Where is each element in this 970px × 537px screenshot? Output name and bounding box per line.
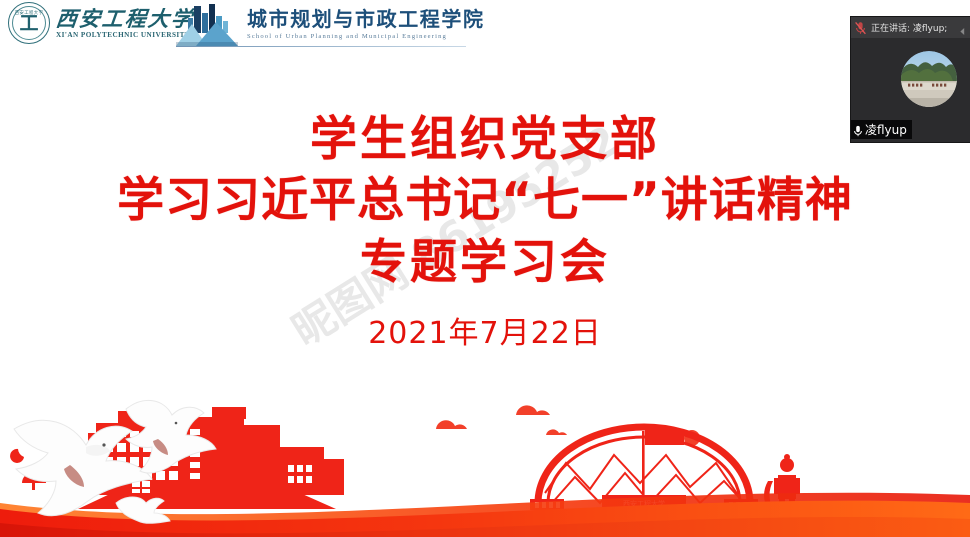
mic-active-icon xyxy=(853,124,863,136)
city-buildings-icon xyxy=(176,2,238,46)
campus-photo-avatar xyxy=(901,51,957,107)
university-logo: 西安工程大学 工 西安工程大学 XI'AN POLYTECHNIC UNIVER… xyxy=(8,2,194,44)
header-divider xyxy=(176,46,466,47)
dove-medium xyxy=(126,400,216,473)
speaking-status-label: 正在讲话: 凌flyup; xyxy=(871,21,954,34)
slide-header-logos: 西安工程大学 工 西安工程大学 XI'AN POLYTECHNIC UNIVER… xyxy=(0,0,970,52)
university-name-en: XI'AN POLYTECHNIC UNIVERSITY xyxy=(56,31,194,39)
chevron-left-icon[interactable] xyxy=(958,23,967,32)
school-name-cn: 城市规划与市政工程学院 xyxy=(247,8,485,30)
title-line-3: 专题学习会 xyxy=(0,235,970,290)
participant-name: 凌flyup xyxy=(865,121,907,138)
video-conference-overlay[interactable]: 正在讲话: 凌flyup; xyxy=(851,17,970,142)
presentation-screen: 西安工程大学 工 西安工程大学 XI'AN POLYTECHNIC UNIVER… xyxy=(0,0,970,537)
mic-muted-icon[interactable] xyxy=(854,21,867,35)
video-conference-header[interactable]: 正在讲话: 凌flyup; xyxy=(851,17,970,38)
school-name-en: School of Urban Planning and Municipal E… xyxy=(247,33,485,40)
university-seal-icon: 西安工程大学 工 xyxy=(8,2,50,44)
university-name-group: 西安工程大学 XI'AN POLYTECHNIC UNIVERSITY xyxy=(56,7,194,39)
title-line-1: 学生组织党支部 xyxy=(0,112,970,167)
slide-date: 2021年7月22日 xyxy=(0,308,970,352)
flying-doves xyxy=(0,387,300,537)
university-name-cn: 西安工程大学 xyxy=(55,7,195,30)
school-name-group: 城市规划与市政工程学院 School of Urban Planning and… xyxy=(247,8,485,39)
participant-name-badge: 凌flyup xyxy=(851,120,912,139)
video-conference-stage[interactable]: 凌flyup xyxy=(851,38,970,142)
slide-title-block: 学生组织党支部 学习习近平总书记“七一”讲话精神 专题学习会 2021年7月22… xyxy=(0,112,970,352)
title-line-2: 学习习近平总书记“七一”讲话精神 xyxy=(0,173,970,228)
school-logo: 城市规划与市政工程学院 School of Urban Planning and… xyxy=(176,2,485,46)
dove-small xyxy=(116,497,170,523)
university-seal-glyph: 工 xyxy=(19,14,38,33)
